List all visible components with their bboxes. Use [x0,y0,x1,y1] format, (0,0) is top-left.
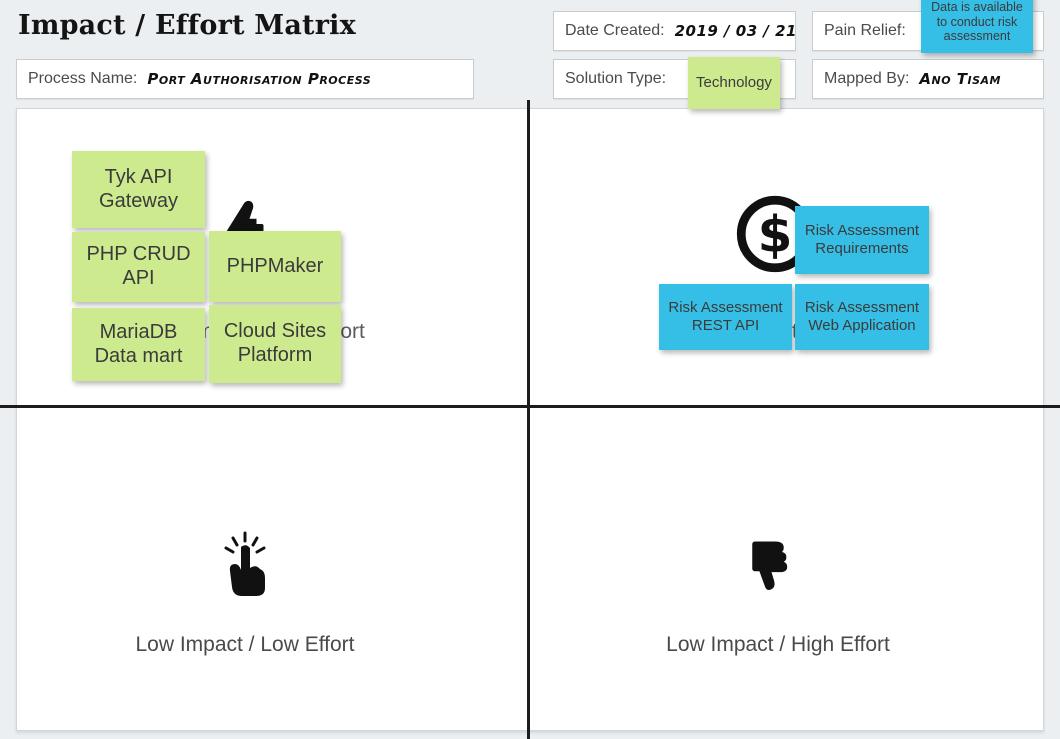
tap-finger-icon [219,531,271,597]
process-name-field[interactable]: Process Name: Port Authorisation Process [16,59,474,99]
sticky-note-text: PHP CRUD API [72,243,205,290]
mapped-by-label: Mapped By: [824,70,909,88]
solution-type-sticky-text: Technology [690,74,778,92]
impact-effort-matrix-page: Impact / Effort Matrix Process Name: Por… [0,0,1060,739]
sticky-note-risk-assessment-web-application[interactable]: Risk Assessment Web Application [795,284,929,350]
mapped-by-value: Ano Tisam [919,70,1001,88]
page-title: Impact / Effort Matrix [18,10,356,41]
matrix-vertical-divider [527,100,530,739]
sticky-note-phpmaker[interactable]: PHPMaker [209,231,341,302]
matrix-horizontal-divider [0,405,1060,408]
sticky-note-text: Risk Assessment REST API [659,299,792,334]
process-name-label: Process Name: [28,70,137,88]
date-created-field[interactable]: Date Created: 2019 / 03 / 21 [553,11,796,51]
pain-relief-sticky-note[interactable]: Data is available to conduct risk assess… [921,0,1033,53]
sticky-note-mariadb-data-mart[interactable]: MariaDB Data mart [72,308,205,381]
date-created-label: Date Created: [565,22,665,40]
svg-text:$: $ [758,206,793,264]
sticky-note-tyk-api-gateway[interactable]: Tyk API Gateway [72,151,205,228]
quadrant-label-low-impact-high-effort: Low Impact / High Effort [608,633,948,657]
quadrant-label-low-impact-low-effort: Low Impact / Low Effort [75,633,415,657]
thumbs-down-icon [747,536,803,596]
date-created-value: 2019 / 03 / 21 [675,22,797,40]
sticky-note-text: MariaDB Data mart [72,321,205,368]
sticky-note-risk-assessment-requirements[interactable]: Risk Assessment Requirements [795,206,929,274]
sticky-note-text: Risk Assessment Web Application [795,299,929,334]
mapped-by-field[interactable]: Mapped By: Ano Tisam [812,59,1044,99]
sticky-note-text: Cloud Sites Platform [209,320,341,367]
pain-relief-label: Pain Relief: [824,22,906,40]
sticky-note-text: Tyk API Gateway [72,166,205,213]
pain-relief-sticky-text: Data is available to conduct risk assess… [921,0,1033,44]
solution-type-label: Solution Type: [565,70,666,88]
sticky-note-text: PHPMaker [221,255,330,279]
sticky-note-cloud-sites-platform[interactable]: Cloud Sites Platform [209,305,341,383]
process-name-value: Port Authorisation Process [147,70,371,88]
sticky-note-risk-assessment-rest-api[interactable]: Risk Assessment REST API [659,284,792,350]
sticky-note-text: Risk Assessment Requirements [795,222,929,257]
solution-type-sticky-note[interactable]: Technology [688,57,780,109]
sticky-note-php-crud-api[interactable]: PHP CRUD API [72,232,205,302]
